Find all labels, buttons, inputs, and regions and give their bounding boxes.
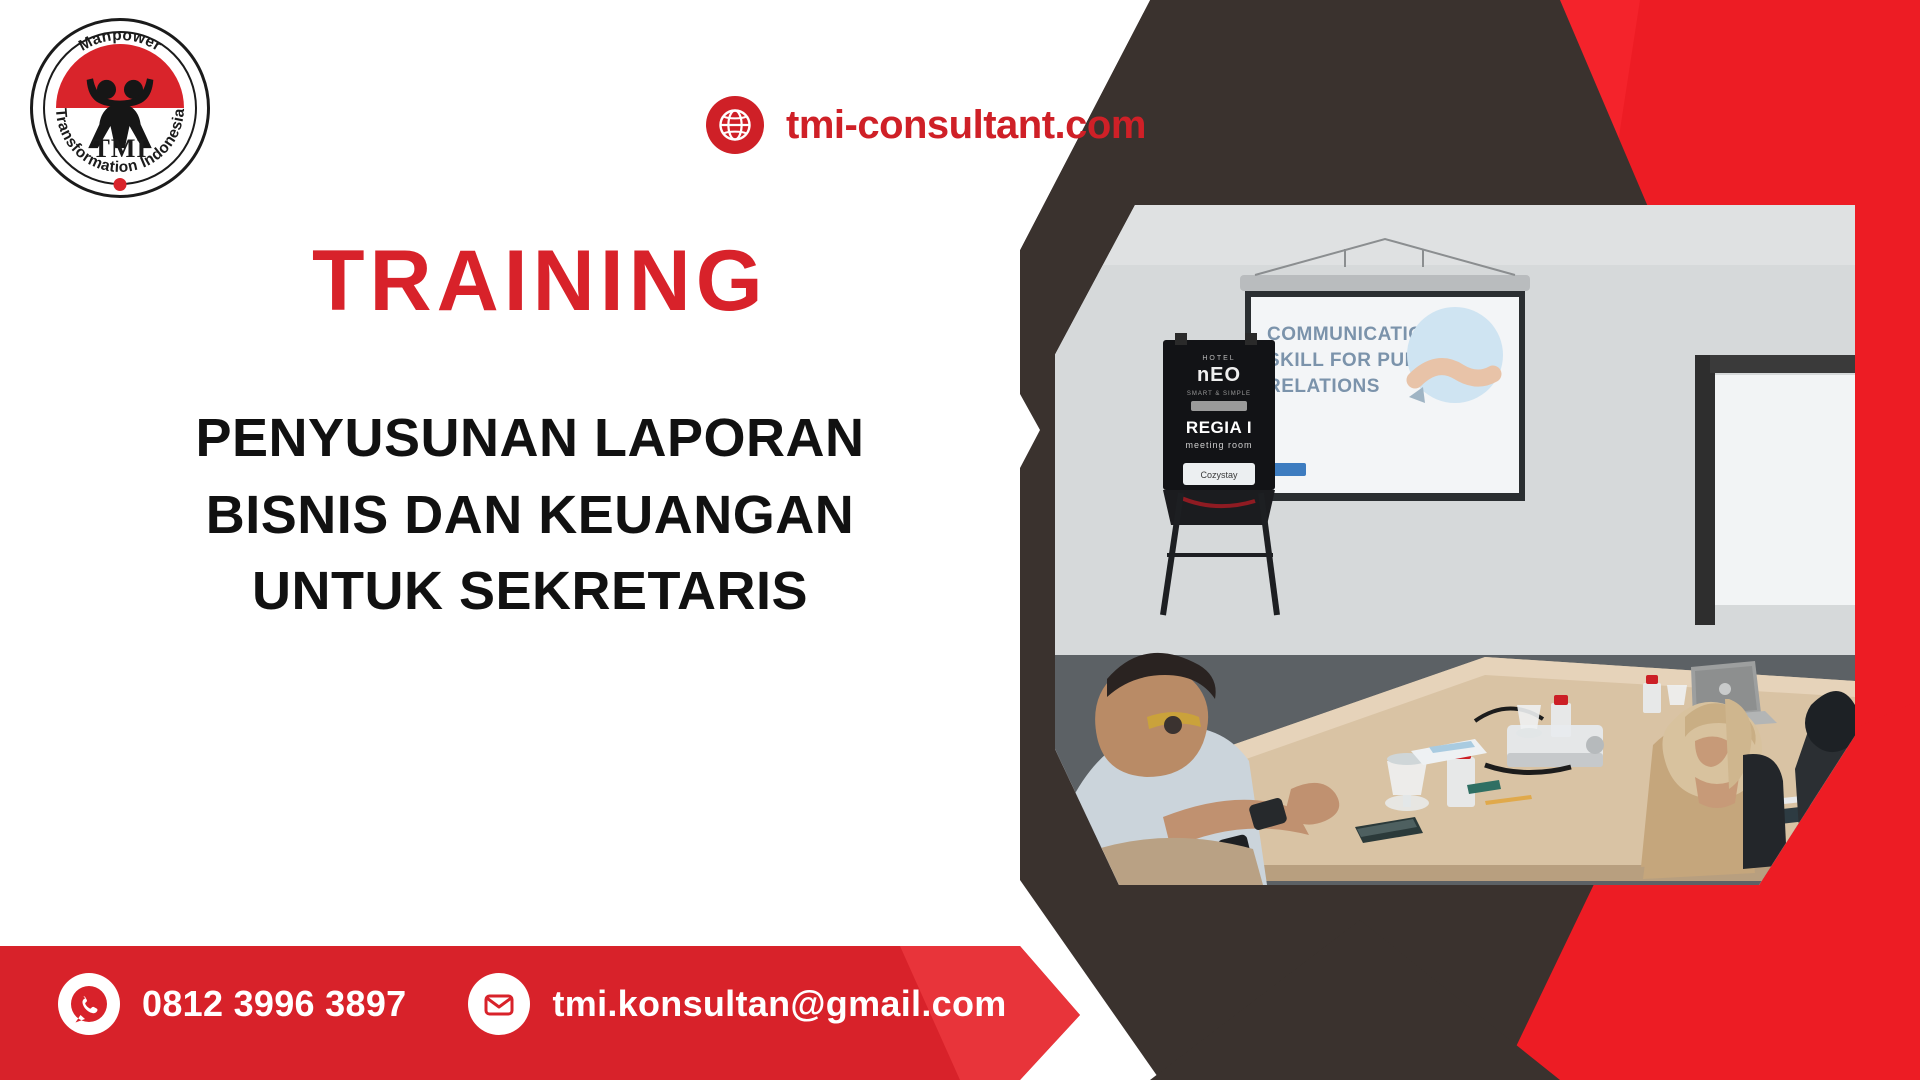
email-contact[interactable]: tmi.konsultan@gmail.com: [468, 973, 1006, 1035]
logo-circular-text: Manpower Transformation Indonesia: [30, 18, 210, 198]
meeting-room-scene: COMMUNICATIONS SKILL FOR PUBLIC RELATION…: [1055, 205, 1855, 885]
title-line-3: UNTUK SEKRETARIS: [0, 553, 1060, 630]
promotional-banner: TMI Manpower Transformation Indonesia: [0, 0, 1920, 1080]
title-line-2: BISNIS DAN KEUANGAN: [0, 477, 1060, 554]
globe-icon: [706, 96, 764, 154]
website-row[interactable]: tmi-consultant.com: [706, 96, 1146, 154]
logo-red-dot: [114, 178, 127, 191]
logo-text-bottom: Transformation Indonesia: [52, 108, 188, 177]
svg-text:SMART & SIMPLE: SMART & SIMPLE: [1187, 391, 1251, 397]
contact-row: 0812 3996 3897 tmi.konsultan@gmail.com: [0, 956, 1100, 1052]
training-title: PENYUSUNAN LAPORAN BISNIS DAN KEUANGAN U…: [0, 400, 1060, 630]
logo-text-top: Manpower: [76, 27, 164, 55]
company-logo: TMI Manpower Transformation Indonesia: [30, 18, 210, 198]
website-url[interactable]: tmi-consultant.com: [786, 103, 1146, 148]
whatsapp-icon: [58, 973, 120, 1035]
svg-text:Cozystay: Cozystay: [1200, 470, 1238, 480]
svg-text:nEO: nEO: [1197, 364, 1241, 386]
envelope-icon: [468, 973, 530, 1035]
phone-contact[interactable]: 0812 3996 3897: [58, 973, 406, 1035]
eyebrow-training: TRAINING: [312, 238, 768, 324]
banner-room: REGIA I: [1186, 418, 1252, 437]
title-line-1: PENYUSUNAN LAPORAN: [0, 400, 1060, 477]
phone-number[interactable]: 0812 3996 3897: [142, 983, 406, 1025]
training-photo: COMMUNICATIONS SKILL FOR PUBLIC RELATION…: [1055, 205, 1855, 885]
email-address[interactable]: tmi.konsultan@gmail.com: [552, 983, 1006, 1025]
svg-text:meeting room: meeting room: [1185, 440, 1252, 450]
slide-line-3: RELATIONS: [1267, 376, 1380, 397]
svg-text:HOTEL: HOTEL: [1202, 355, 1235, 362]
